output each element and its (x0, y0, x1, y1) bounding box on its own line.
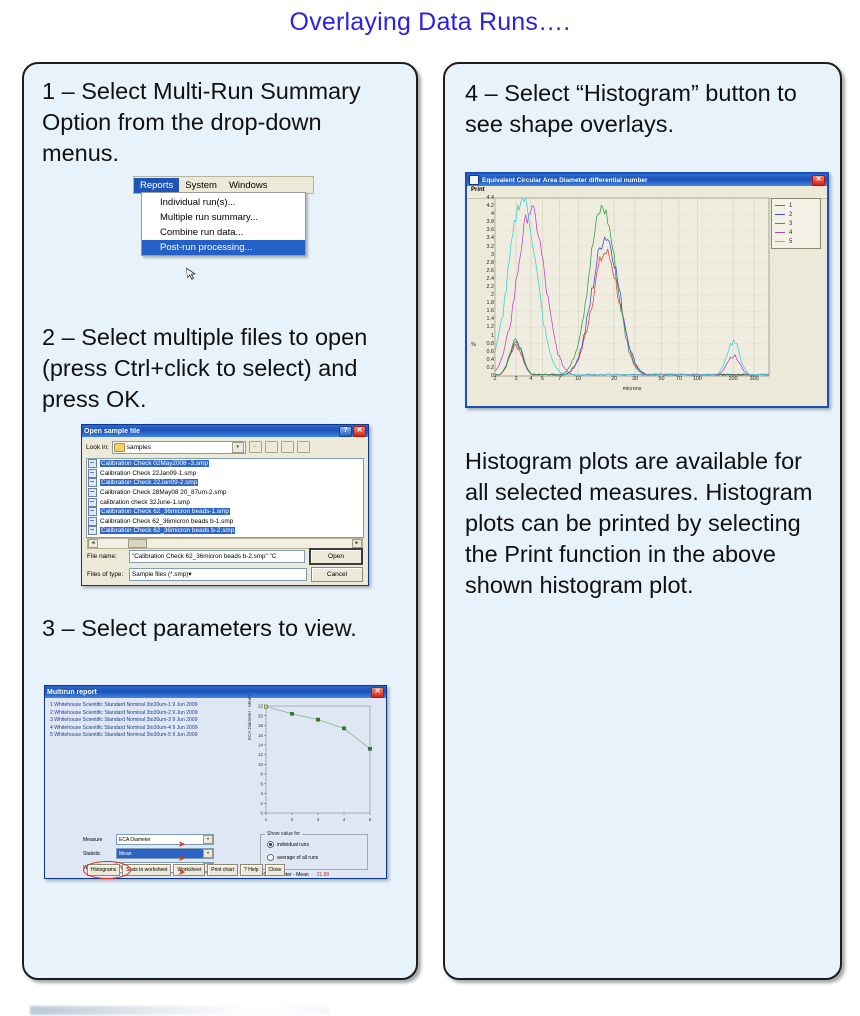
svg-text:16: 16 (258, 733, 263, 738)
x-tick-label: 5 (541, 376, 544, 382)
file-name: Calibration Check 62_36micron beads b-2.… (100, 527, 235, 534)
chevron-down-icon[interactable]: ▾ (188, 571, 191, 578)
radio-label: individual runs (277, 842, 309, 848)
look-in-value: samples (127, 444, 151, 451)
help-icon[interactable]: ? (339, 426, 352, 437)
menu-system[interactable]: System (179, 178, 223, 193)
back-icon[interactable]: ← (249, 441, 262, 453)
x-axis-label: microns (495, 386, 769, 392)
histogram-window: Equivalent Circular Area Diameter differ… (465, 172, 829, 408)
svg-text:12: 12 (258, 752, 263, 757)
folder-icon (114, 443, 125, 452)
decorative-bottom-strip (0, 1004, 860, 1016)
reports-dropdown-menu[interactable]: Individual run(s)... Multiple run summar… (141, 192, 306, 256)
annotation-arrow-icon: ➤ (178, 854, 186, 863)
svg-text:2: 2 (261, 801, 264, 806)
menu-print[interactable]: Print (471, 187, 485, 193)
file-name: Calibration Check 02May2008 -3.smp (100, 460, 209, 467)
svg-text:4: 4 (261, 791, 264, 796)
dialog-titlebar: Multirun report ✕ (45, 686, 386, 698)
statistic-combobox[interactable]: Mean ▾ (116, 848, 214, 859)
file-name: Calibration Check 62_36micron beads-1.sm… (100, 508, 230, 515)
x-tick-label: 70 (676, 376, 682, 382)
menu-windows[interactable]: Windows (223, 178, 274, 193)
close-button[interactable]: Close (265, 864, 286, 876)
step-4-text: 4 – Select “Histogram” button to see sha… (465, 78, 821, 140)
legend-swatch (775, 205, 785, 206)
smp-file-icon (88, 488, 97, 497)
list-item[interactable]: calibration check 32June-1.smp (87, 497, 363, 507)
x-tick-label: 30 (632, 376, 638, 382)
legend-item: 4 (775, 228, 817, 237)
x-tick-label: 20 (611, 376, 617, 382)
legend-item: 5 (775, 237, 817, 246)
close-icon[interactable]: ✕ (353, 426, 366, 437)
legend-label: 4 (789, 230, 792, 236)
histogram-note-text: Histogram plots are available for all se… (465, 446, 821, 601)
radio-dot-icon (267, 841, 274, 848)
svg-text:2: 2 (291, 817, 294, 822)
menu-item-individual-runs[interactable]: Individual run(s)... (142, 195, 305, 210)
list-item[interactable]: Calibration Check 22Jan09-1.smp (87, 469, 363, 479)
menu-item-combine-run-data[interactable]: Combine run data... (142, 225, 305, 240)
close-icon[interactable]: ✕ (371, 687, 384, 698)
smp-file-icon (88, 517, 97, 526)
svg-text:3: 3 (317, 817, 320, 822)
files-of-type-value: Sample files (*.smp) (132, 571, 188, 578)
file-name: Calibration Check 62_36micron beads b-1.… (100, 518, 233, 525)
new-folder-icon[interactable] (281, 441, 294, 453)
legend-label: 3 (789, 221, 792, 227)
svg-text:8: 8 (261, 772, 264, 777)
page-title: Overlaying Data Runs…. (0, 8, 860, 37)
histograms-button-highlight (83, 861, 131, 879)
legend-item: 3 (775, 219, 817, 228)
file-list[interactable]: Calibration Check 02May2008 -3.smp Calib… (86, 458, 364, 538)
svg-text:22: 22 (258, 704, 263, 709)
x-tick-label: 7 (558, 376, 561, 382)
legend-item: 2 (775, 210, 817, 219)
multirun-report-dialog: Multirun report ✕ 1 Whitehouse Scientifi… (44, 685, 387, 879)
look-in-row: Look in: samples ▾ ← (82, 437, 368, 457)
chart-canvas: 024681012141618202212345 (250, 702, 376, 827)
legend-label: 1 (789, 203, 792, 209)
dialog-title: Multirun report (47, 689, 371, 696)
smp-file-icon (88, 498, 97, 507)
show-value-for-label: Show value for (265, 831, 302, 837)
menu-item-post-run-processing[interactable]: Post-run processing... (142, 240, 305, 255)
statistic-row: Statistic Mean ▾ (83, 848, 214, 859)
smp-file-icon (88, 507, 97, 516)
list-item[interactable]: Calibration Check 62_36micron beads b-1.… (87, 517, 363, 527)
svg-text:1: 1 (265, 817, 268, 822)
files-of-type-row: Files of type: Sample files (*.smp) ▾ Ca… (82, 565, 368, 582)
radio-label: average of all runs (277, 855, 318, 861)
step-3-text: 3 – Select parameters to view. (42, 613, 402, 644)
chevron-down-icon[interactable]: ▾ (203, 849, 213, 858)
measure-value: ECA Diameter (119, 837, 151, 843)
chart-y-axis-label: ECA Diameter - Mean (247, 695, 252, 740)
radio-individual-runs[interactable]: individual runs (267, 841, 367, 848)
chevron-down-icon[interactable]: ▾ (232, 442, 244, 453)
list-item[interactable]: Calibration Check 62_36micron beads-1.sm… (87, 507, 363, 517)
step-1-text: 1 – Select Multi-Run Summary Option from… (42, 76, 402, 169)
x-tick-label: 4 (529, 376, 532, 382)
measure-label: Measure (83, 837, 113, 843)
menu-reports[interactable]: Reports (134, 178, 179, 193)
histogram-plot: 00.20.40.60.811.21.41.61.822.22.42.62.83… (473, 194, 773, 396)
print-chart-button[interactable]: Print chart (207, 864, 238, 876)
chevron-down-icon[interactable]: ▾ (203, 835, 213, 844)
chart-window-icon (469, 175, 479, 185)
list-item[interactable]: 5 Whitehouse Scientific Standard Nominal… (50, 732, 230, 740)
list-item[interactable]: 1 Whitehouse Scientific Standard Nominal… (50, 702, 230, 710)
window-titlebar: Equivalent Circular Area Diameter differ… (467, 174, 827, 186)
smp-file-icon (88, 459, 97, 468)
file-name-input[interactable]: "Calibration Check 62_36micron beads b-2… (129, 550, 305, 563)
menu-item-multiple-run-summary[interactable]: Multiple run summary... (142, 210, 305, 225)
measure-row: Measure ECA Diameter ▾ (83, 834, 214, 845)
legend-swatch (775, 223, 785, 224)
measure-combobox[interactable]: ECA Diameter ▾ (116, 834, 214, 845)
legend-swatch (775, 232, 785, 233)
radio-dot-icon (267, 854, 274, 861)
chart-legend: 1 2 3 4 5 (771, 198, 821, 249)
list-item[interactable]: 2 Whitehouse Scientific Standard Nominal… (50, 710, 230, 718)
look-in-combobox[interactable]: samples ▾ (112, 441, 246, 454)
files-of-type-combobox[interactable]: Sample files (*.smp) ▾ (129, 568, 307, 581)
statistic-value: Mean (119, 851, 132, 857)
dialog-title: Open sample file (84, 428, 339, 435)
file-name: Calibration Check 28May08 20_87um-2.smp (100, 489, 226, 496)
legend-label: 2 (789, 212, 792, 218)
radio-average-of-all-runs[interactable]: average of all runs (267, 854, 367, 861)
list-item[interactable]: Calibration Check 22Jan09-2.smp (87, 478, 363, 488)
up-folder-icon[interactable] (265, 441, 278, 453)
legend-swatch (775, 241, 785, 242)
file-name: calibration check 32June-1.smp (100, 499, 190, 506)
list-item[interactable]: 4 Whitehouse Scientific Standard Nominal… (50, 725, 230, 733)
close-icon[interactable]: ✕ (812, 175, 825, 186)
cancel-button[interactable]: Cancel (311, 567, 363, 582)
list-item[interactable]: Calibration Check 62_36micron beads b-2.… (87, 526, 363, 536)
histogram-canvas (473, 194, 773, 380)
open-sample-file-dialog: Open sample file ? ✕ Look in: samples ▾ … (81, 424, 369, 586)
views-icon[interactable] (297, 441, 310, 453)
multirun-mean-chart: ECA Diameter - Mean 02468101214161820221… (250, 702, 376, 827)
x-tick-label: 200 (729, 376, 738, 382)
x-tick-label: 3 (514, 376, 517, 382)
x-tick-label: 10 (575, 376, 581, 382)
value-number: 21.88 (317, 872, 330, 878)
legend-swatch (775, 214, 785, 215)
svg-text:20: 20 (258, 713, 263, 718)
svg-text:10: 10 (258, 762, 263, 767)
svg-text:0: 0 (261, 811, 264, 816)
list-item[interactable]: Calibration Check 02May2008 -3.smp (87, 459, 363, 469)
file-name: Calibration Check 22Jan09-1.smp (100, 470, 196, 477)
annotation-arrow-icon: ➤ (178, 840, 186, 849)
look-in-label: Look in: (86, 444, 109, 451)
window-title: Equivalent Circular Area Diameter differ… (482, 177, 812, 184)
file-name-label: File name: (87, 553, 125, 560)
legend-item: 1 (775, 201, 817, 210)
x-tick-label: 50 (658, 376, 664, 382)
file-name: Calibration Check 22Jan09-2.smp (100, 479, 198, 486)
x-tick-label: 100 (693, 376, 702, 382)
smp-file-icon (88, 469, 97, 478)
statistic-label: Statistic (83, 851, 113, 857)
smp-file-icon (88, 526, 97, 535)
svg-text:4: 4 (343, 817, 346, 822)
x-tick-label: 2 (494, 376, 497, 382)
annotation-arrow-icon: ➤ (178, 868, 186, 877)
legend-label: 5 (789, 239, 792, 245)
step-2-text: 2 – Select multiple files to open (press… (42, 322, 402, 415)
svg-text:6: 6 (261, 781, 264, 786)
dialog-titlebar: Open sample file ? ✕ (82, 425, 368, 437)
files-of-type-label: Files of type: (87, 571, 125, 578)
x-tick-label: 300 (750, 376, 759, 382)
list-item[interactable]: Calibration Check 28May08 20_87um-2.smp (87, 488, 363, 498)
svg-text:14: 14 (258, 743, 263, 748)
svg-text:5: 5 (369, 817, 372, 822)
open-button[interactable]: Open (309, 548, 363, 565)
help-button[interactable]: ? Help (240, 864, 262, 876)
list-item[interactable]: 3 Whitehouse Scientific Standard Nominal… (50, 717, 230, 725)
file-name-row: File name: "Calibration Check 62_36micro… (82, 546, 368, 565)
svg-text:18: 18 (258, 723, 263, 728)
smp-file-icon (88, 478, 97, 487)
run-list[interactable]: 1 Whitehouse Scientific Standard Nominal… (50, 702, 230, 740)
